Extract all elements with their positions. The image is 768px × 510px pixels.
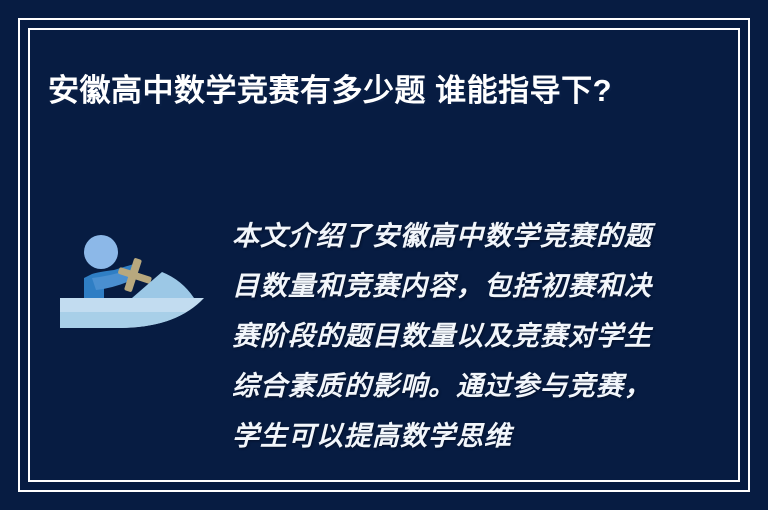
rowing-boat-illustration — [58, 228, 204, 332]
article-summary-text: 本文介绍了安徽高中数学竞赛的题目数量和竞赛内容，包括初赛和决赛阶段的题目数量以及… — [232, 212, 652, 462]
rower-head-icon — [84, 235, 118, 269]
boat-hull-shadow — [60, 312, 186, 328]
article-cover-card: 安徽高中数学竞赛有多少题 谁能指导下? 本文介绍了安徽高中数学竞赛的题目数量和竞… — [0, 0, 768, 510]
page-title: 安徽高中数学竞赛有多少题 谁能指导下? — [48, 68, 688, 114]
